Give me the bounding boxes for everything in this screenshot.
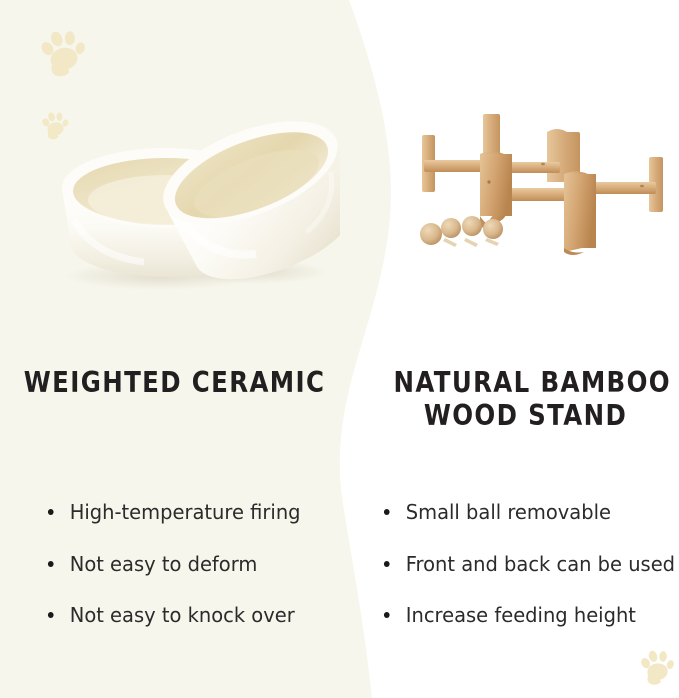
bamboo-wooden-balls <box>420 216 503 247</box>
list-item: Front and back can be used <box>382 552 675 577</box>
ceramic-bowls-product-image <box>40 80 340 290</box>
left-panel-heading: WEIGHTED CERAMIC <box>24 366 316 399</box>
right-panel-heading: NATURAL BAMBOO WOOD STAND <box>393 366 657 432</box>
left-heading-line-1: WEIGHTED CERAMIC <box>24 366 316 399</box>
right-heading-line-1: NATURAL BAMBOO <box>393 366 657 399</box>
bamboo-stand-product-image <box>404 112 676 262</box>
paw-print-top-left-large-icon <box>33 23 93 84</box>
right-heading-line-2: WOOD STAND <box>393 399 657 432</box>
list-item: Not easy to deform <box>46 552 301 577</box>
left-feature-list: High-temperature firing Not easy to defo… <box>46 500 314 655</box>
list-item: Not easy to knock over <box>46 603 301 628</box>
list-item: Increase feeding height <box>382 603 675 628</box>
list-item: Small ball removable <box>382 500 675 525</box>
infographic-canvas: WEIGHTED CERAMIC NATURAL BAMBOO WOOD STA… <box>0 0 679 698</box>
right-feature-list: Small ball removable Front and back can … <box>382 500 679 655</box>
list-item: High-temperature firing <box>46 500 301 525</box>
